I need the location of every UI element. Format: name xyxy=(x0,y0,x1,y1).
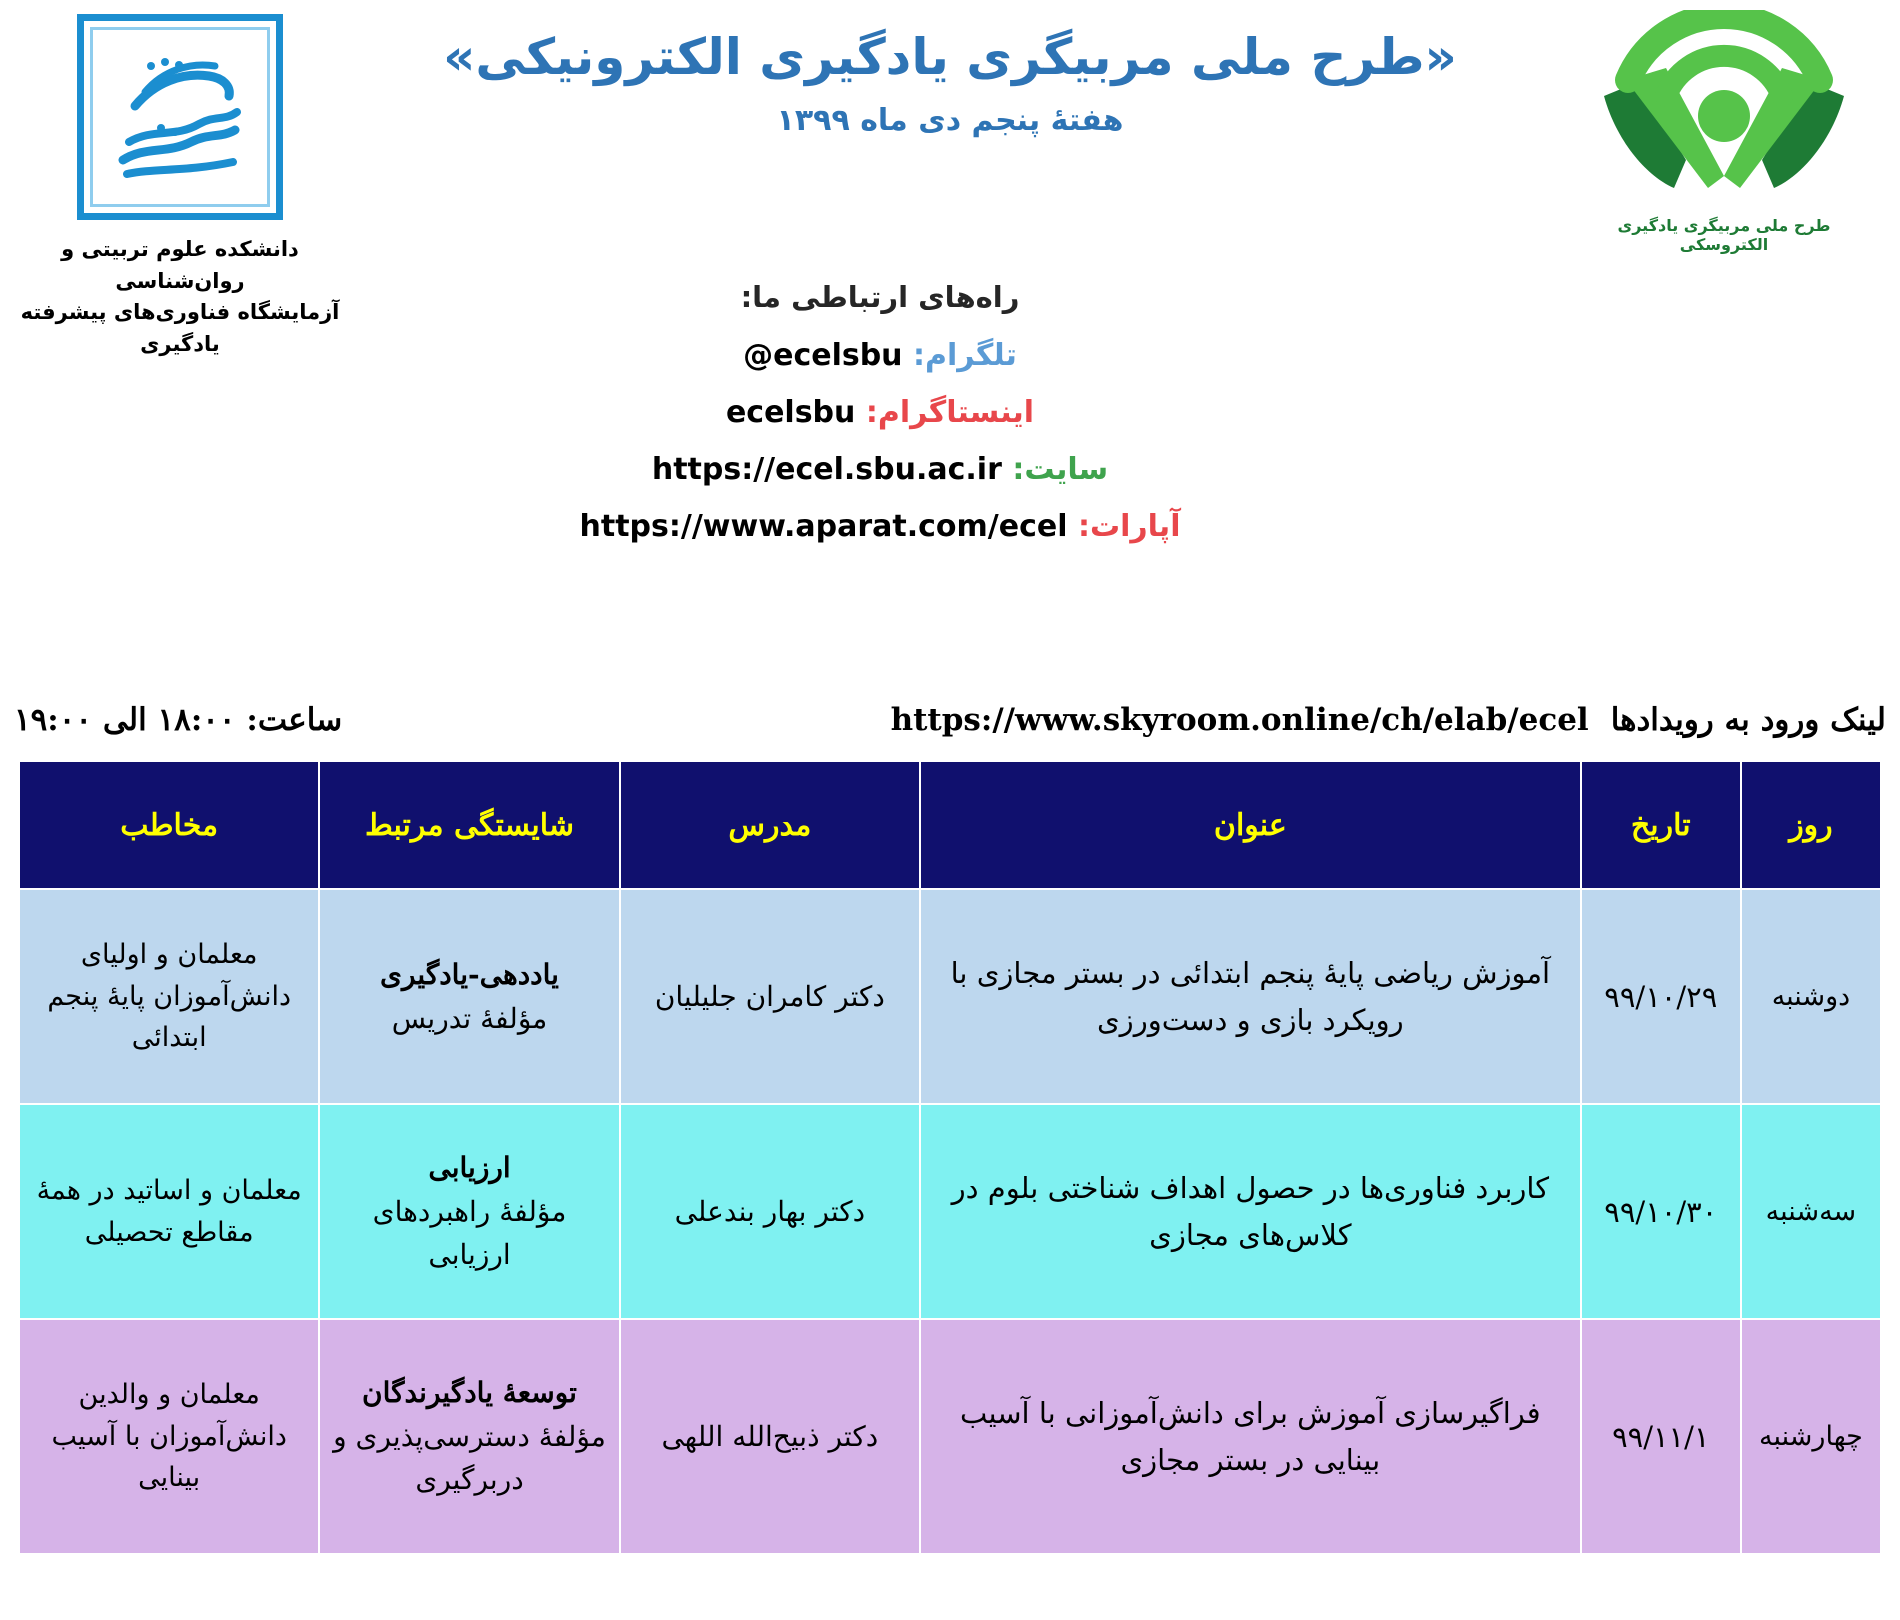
cell-competency: توسعهٔ یادگیرندگان مؤلفهٔ دسترسی‌پذیری و… xyxy=(319,1319,619,1554)
table-row: چهارشنبه ۹۹/۱۱/۱ فراگیرسازی آموزش برای د… xyxy=(19,1319,1881,1554)
cell-date: ۹۹/۱۱/۱ xyxy=(1581,1319,1741,1554)
competency-main: ارزیابی xyxy=(328,1146,610,1189)
university-seal-icon xyxy=(77,14,283,220)
competency-main: یاددهی-یادگیری xyxy=(328,953,610,996)
contact-website-value[interactable]: https://ecel.sbu.ac.ir xyxy=(652,452,1002,487)
program-logo-caption: طرح ملی مربیگری یادگیری الکتروسکی xyxy=(1574,216,1874,254)
table-header-row: روز تاریخ عنوان مدرس شایستگی مرتبط مخاطب xyxy=(19,761,1881,889)
contact-telegram-value[interactable]: @ecelsbu xyxy=(743,338,902,373)
schedule-table-wrapper: روز تاریخ عنوان مدرس شایستگی مرتبط مخاطب… xyxy=(18,760,1882,1555)
contact-telegram: تلگرام: @ecelsbu xyxy=(0,338,1900,373)
cell-date: ۹۹/۱۰/۲۹ xyxy=(1581,889,1741,1104)
cell-instructor: دکتر بهار بندعلی xyxy=(620,1104,920,1319)
cell-title: فراگیرسازی آموزش برای دانش‌آموزانی با آس… xyxy=(920,1319,1581,1554)
competency-sub: مؤلفهٔ راهبردهای ارزیابی xyxy=(328,1190,610,1277)
cell-competency: ارزیابی مؤلفهٔ راهبردهای ارزیابی xyxy=(319,1104,619,1319)
contact-instagram: اینستاگرام: ecelsbu xyxy=(0,395,1900,430)
events-link-bar: لینک ورود به رویدادها https://www.skyroo… xyxy=(0,690,1900,750)
column-header-date: تاریخ xyxy=(1581,761,1741,889)
cell-instructor: دکتر کامران جلیلیان xyxy=(620,889,920,1104)
wifi-hands-icon xyxy=(1590,10,1858,210)
poster-page: دانشکده علوم تربیتی و روان‌شناسی آزمایشگ… xyxy=(0,0,1900,1620)
cell-audience: معلمان و اساتید در همهٔ مقاطع تحصیلی xyxy=(19,1104,319,1319)
column-header-instructor: مدرس xyxy=(620,761,920,889)
cell-date: ۹۹/۱۰/۳۰ xyxy=(1581,1104,1741,1319)
contact-instagram-label: اینستاگرام xyxy=(878,395,1034,430)
title-block: «طرح ملی مربیگری یادگیری الکترونیکی» هفت… xyxy=(380,26,1520,138)
events-url[interactable]: https://www.skyroom.online/ch/elab/ecel xyxy=(891,702,1589,738)
contact-website-label: سایت xyxy=(1024,452,1108,487)
competency-sub: مؤلفهٔ دسترسی‌پذیری و دربرگیری xyxy=(328,1415,610,1502)
contact-aparat-label: آپارات xyxy=(1090,509,1181,544)
page-subtitle: هفتهٔ پنجم دی ماه ۱۳۹۹ xyxy=(380,103,1520,138)
column-header-day: روز xyxy=(1741,761,1881,889)
page-title: «طرح ملی مربیگری یادگیری الکترونیکی» xyxy=(380,26,1520,89)
table-row: سه‌شنبه ۹۹/۱۰/۳۰ کاربرد فناوری‌ها در حصو… xyxy=(19,1104,1881,1319)
cell-day: سه‌شنبه xyxy=(1741,1104,1881,1319)
column-header-audience: مخاطب xyxy=(19,761,319,889)
contact-block: راه‌های ارتباطی ما: تلگرام: @ecelsbu این… xyxy=(0,280,1900,566)
program-logo-block: طرح ملی مربیگری یادگیری الکتروسکی xyxy=(1574,10,1874,254)
cell-audience: معلمان و اولیای دانش‌آموزان پایهٔ پنجم ا… xyxy=(19,889,319,1104)
cell-competency: یاددهی-یادگیری مؤلفهٔ تدریس xyxy=(319,889,619,1104)
competency-sub: مؤلفهٔ تدریس xyxy=(328,997,610,1040)
schedule-table: روز تاریخ عنوان مدرس شایستگی مرتبط مخاطب… xyxy=(18,760,1882,1555)
cell-title: کاربرد فناوری‌ها در حصول اهداف شناختی بل… xyxy=(920,1104,1581,1319)
contact-aparat: آپارات: https://www.aparat.com/ecel xyxy=(0,509,1900,544)
poster-header: دانشکده علوم تربیتی و روان‌شناسی آزمایشگ… xyxy=(0,0,1900,640)
cell-instructor: دکتر ذبیح‌الله اللهی xyxy=(620,1319,920,1554)
contact-telegram-label: تلگرام xyxy=(925,338,1017,373)
column-header-competency: شایستگی مرتبط xyxy=(319,761,619,889)
column-header-title: عنوان xyxy=(920,761,1581,889)
cell-day: دوشنبه xyxy=(1741,889,1881,1104)
contact-aparat-value[interactable]: https://www.aparat.com/ecel xyxy=(580,509,1068,544)
table-row: دوشنبه ۹۹/۱۰/۲۹ آموزش ریاضی پایهٔ پنجم ا… xyxy=(19,889,1881,1104)
contact-heading: راه‌های ارتباطی ما: xyxy=(0,280,1900,314)
cell-title: آموزش ریاضی پایهٔ پنجم ابتدائی در بستر م… xyxy=(920,889,1581,1104)
cell-audience: معلمان و والدین دانش‌آموزان با آسیب بینا… xyxy=(19,1319,319,1554)
cell-day: چهارشنبه xyxy=(1741,1319,1881,1554)
contact-website: سایت: https://ecel.sbu.ac.ir xyxy=(0,452,1900,487)
events-link-label: لینک ورود به رویدادها xyxy=(1611,702,1886,738)
contact-instagram-value[interactable]: ecelsbu xyxy=(726,395,855,430)
competency-main: توسعهٔ یادگیرندگان xyxy=(328,1371,610,1414)
session-time-label: ساعت: ۱۸:۰۰ الی ۱۹:۰۰ xyxy=(14,702,342,738)
